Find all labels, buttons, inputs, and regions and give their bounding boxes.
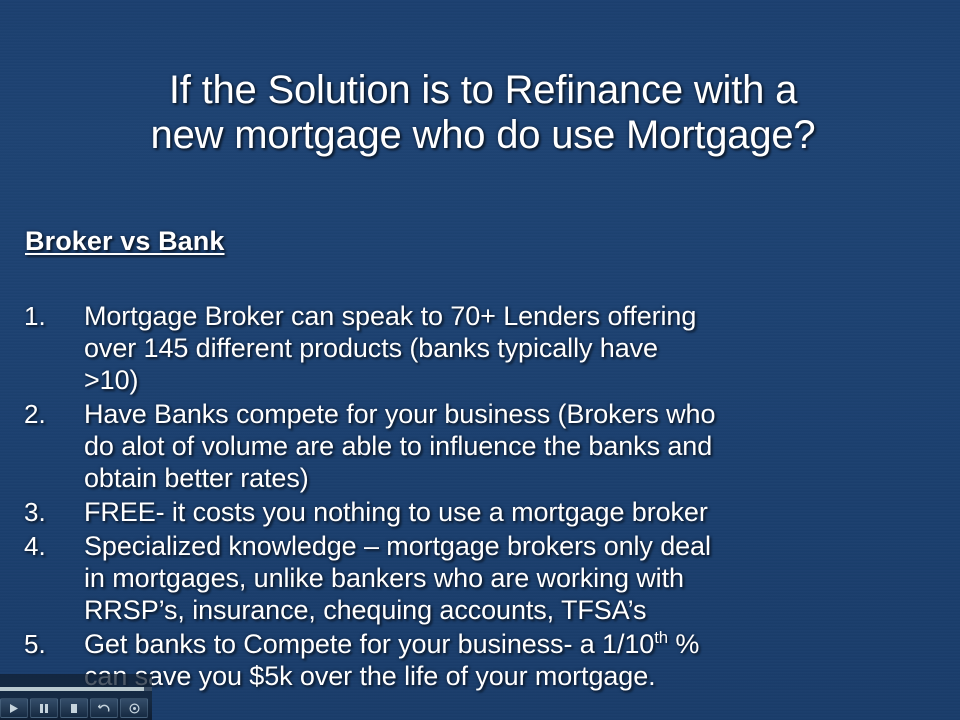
- list-item-marker: 3.: [22, 496, 84, 528]
- slide-title-line-2: new mortgage who do use Mortgage?: [40, 113, 926, 158]
- list-item-text: Specialized knowledge – mortgage brokers…: [84, 530, 942, 626]
- list-item-line: do alot of volume are able to influence …: [84, 430, 942, 462]
- list-item-line: in mortgages, unlike bankers who are wor…: [84, 562, 942, 594]
- stop-icon[interactable]: [60, 698, 88, 718]
- list-item-marker: 4.: [22, 530, 84, 562]
- presentation-slide: If the Solution is to Refinance with a n…: [0, 0, 960, 720]
- player-seek-label: Seek bar: [0, 674, 1, 675]
- slide-title: If the Solution is to Refinance with a n…: [40, 68, 926, 158]
- list-item-text: FREE- it costs you nothing to use a mort…: [84, 496, 942, 528]
- seek-bar[interactable]: [0, 687, 152, 691]
- list-item: 1. Mortgage Broker can speak to 70+ Lend…: [22, 300, 942, 396]
- slide-subheading: Broker vs Bank: [25, 226, 225, 257]
- list-item-marker: 2.: [22, 398, 84, 430]
- list-item: 5. Get banks to Compete for your busines…: [22, 628, 942, 692]
- list-item-text: Get banks to Compete for your business- …: [84, 628, 942, 692]
- list-item-line: >10): [84, 364, 942, 396]
- list-item-line: Have Banks compete for your business (Br…: [84, 398, 942, 430]
- list-item-line: RRSP’s, insurance, chequing accounts, TF…: [84, 594, 942, 626]
- list-item-text: Mortgage Broker can speak to 70+ Lenders…: [84, 300, 942, 396]
- list-item: 2. Have Banks compete for your business …: [22, 398, 942, 494]
- list-item-line: FREE- it costs you nothing to use a mort…: [84, 496, 942, 528]
- list-item-line: Mortgage Broker can speak to 70+ Lenders…: [84, 300, 942, 332]
- list-item-line: obtain better rates): [84, 462, 942, 494]
- numbered-bullet-list: 1. Mortgage Broker can speak to 70+ Lend…: [22, 300, 942, 694]
- settings-icon[interactable]: [120, 698, 148, 718]
- replay-icon[interactable]: [90, 698, 118, 718]
- play-icon[interactable]: [0, 698, 28, 718]
- list-item-line: Specialized knowledge – mortgage brokers…: [84, 530, 942, 562]
- seek-progress-fill: [0, 687, 144, 691]
- list-item-line: over 145 different products (banks typic…: [84, 332, 942, 364]
- slide-title-line-1: If the Solution is to Refinance with a: [40, 68, 926, 113]
- pause-icon[interactable]: [30, 698, 58, 718]
- list-item-line: can save you $5k over the life of your m…: [84, 660, 942, 692]
- list-item-text: Have Banks compete for your business (Br…: [84, 398, 942, 494]
- list-item-line: Get banks to Compete for your business- …: [84, 628, 942, 660]
- list-item: 4. Specialized knowledge – mortgage brok…: [22, 530, 942, 626]
- video-player-stage[interactable]: If the Solution is to Refinance with a n…: [0, 0, 960, 720]
- player-button-group: [0, 698, 148, 718]
- media-player-control-bar[interactable]: Seek bar: [0, 674, 152, 720]
- list-item-marker: 5.: [22, 628, 84, 660]
- list-item-marker: 1.: [22, 300, 84, 332]
- list-item: 3. FREE- it costs you nothing to use a m…: [22, 496, 942, 528]
